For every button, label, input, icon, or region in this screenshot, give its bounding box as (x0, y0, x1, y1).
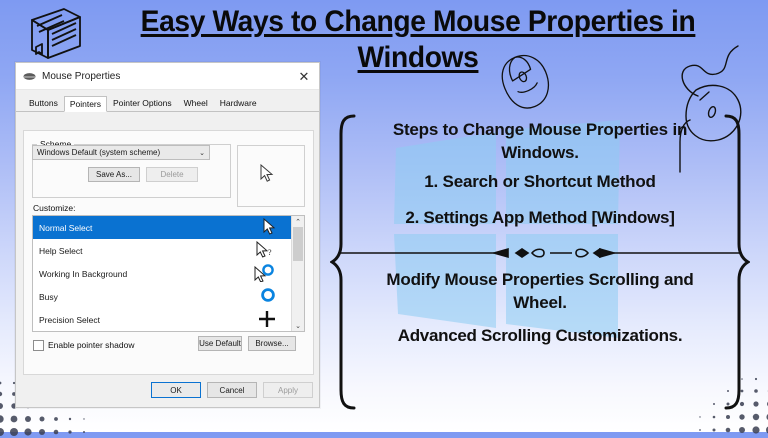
dialog-tabs: Buttons Pointers Pointer Options Wheel H… (16, 93, 319, 112)
tab-pointers[interactable]: Pointers (64, 96, 107, 112)
scroll-up-icon[interactable]: ⌃ (292, 216, 304, 227)
enable-pointer-shadow-label: Enable pointer shadow (48, 340, 134, 350)
dialog-footer: OK Cancel Apply (16, 377, 319, 407)
scheme-value: Windows Default (system scheme) (37, 148, 160, 157)
list-item-label: Normal Select (39, 223, 92, 233)
cancel-button[interactable]: Cancel (207, 382, 257, 398)
curly-brace-left-icon (330, 112, 356, 412)
svg-text:?: ? (268, 248, 272, 257)
book-icon (24, 6, 86, 60)
page-title-line1: Easy Ways to Change Mouse Properties in (141, 5, 696, 38)
arrow-question-cursor: ? (256, 241, 276, 259)
panel-line-1: Steps to Change Mouse Properties in Wind… (358, 118, 722, 164)
scrollbar-thumb[interactable] (293, 227, 303, 261)
tab-pointer-options[interactable]: Pointer Options (107, 95, 178, 111)
list-item-label: Help Select (39, 246, 82, 256)
list-item-label: Working In Background (39, 269, 127, 279)
tab-hardware[interactable]: Hardware (214, 95, 263, 111)
apply-button[interactable]: Apply (263, 382, 313, 398)
customize-label: Customize: (33, 203, 76, 213)
pointers-tab-panel: Scheme Windows Default (system scheme) ⌄… (23, 130, 314, 375)
tab-buttons[interactable]: Buttons (23, 95, 64, 111)
list-item[interactable]: Busy (33, 285, 304, 308)
pointer-preview (237, 145, 305, 207)
list-scrollbar[interactable]: ⌃ ⌄ (291, 216, 304, 331)
scheme-dropdown[interactable]: Windows Default (system scheme) ⌄ (32, 145, 210, 160)
list-item[interactable]: Help Select ? (33, 239, 304, 262)
curly-brace-right-icon (724, 112, 750, 412)
mouse-icon (495, 52, 559, 112)
dialog-titlebar[interactable]: Mouse Properties ✕ (16, 63, 319, 90)
tab-wheel[interactable]: Wheel (178, 95, 214, 111)
list-item[interactable]: Working In Background (33, 262, 304, 285)
enable-pointer-shadow-checkbox[interactable] (33, 340, 44, 351)
arrow-busy-cursor (254, 264, 276, 282)
dialog-title: Mouse Properties (42, 71, 120, 82)
busy-ring-cursor (260, 287, 276, 303)
list-item-label: Busy (39, 292, 58, 302)
list-item-label: Precision Select (39, 315, 100, 325)
use-default-button[interactable]: Use Default (198, 336, 242, 351)
panel-line-5: Advanced Scrolling Customizations. (358, 324, 722, 347)
browse-button[interactable]: Browse... (248, 336, 296, 351)
ok-button[interactable]: OK (151, 382, 201, 398)
list-item[interactable]: Precision Select (33, 308, 304, 331)
ornamental-divider-icon (336, 246, 744, 260)
crosshair-cursor (258, 310, 276, 328)
arrow-cursor (260, 164, 274, 183)
scroll-down-icon[interactable]: ⌄ (292, 320, 304, 331)
customize-list[interactable]: Normal Select Help Select ? Working In B… (32, 215, 305, 332)
list-item[interactable]: Normal Select (33, 216, 304, 239)
mouse-properties-dialog: Mouse Properties ✕ Buttons Pointers Poin… (15, 62, 320, 408)
panel-line-4: Modify Mouse Properties Scrolling and Wh… (358, 268, 722, 314)
panel-line-3: 2. Settings App Method [Windows] (358, 206, 722, 229)
page-title-line2: Windows (358, 41, 479, 74)
panel-line-2: 1. Search or Shortcut Method (358, 170, 722, 193)
chevron-down-icon: ⌄ (199, 149, 205, 157)
close-icon[interactable]: ✕ (289, 63, 319, 89)
mouse-icon (23, 71, 36, 82)
arrow-cursor (263, 218, 276, 236)
save-as-button[interactable]: Save As... (88, 167, 140, 182)
delete-button[interactable]: Delete (146, 167, 198, 182)
content-panel: Steps to Change Mouse Properties in Wind… (330, 112, 750, 412)
